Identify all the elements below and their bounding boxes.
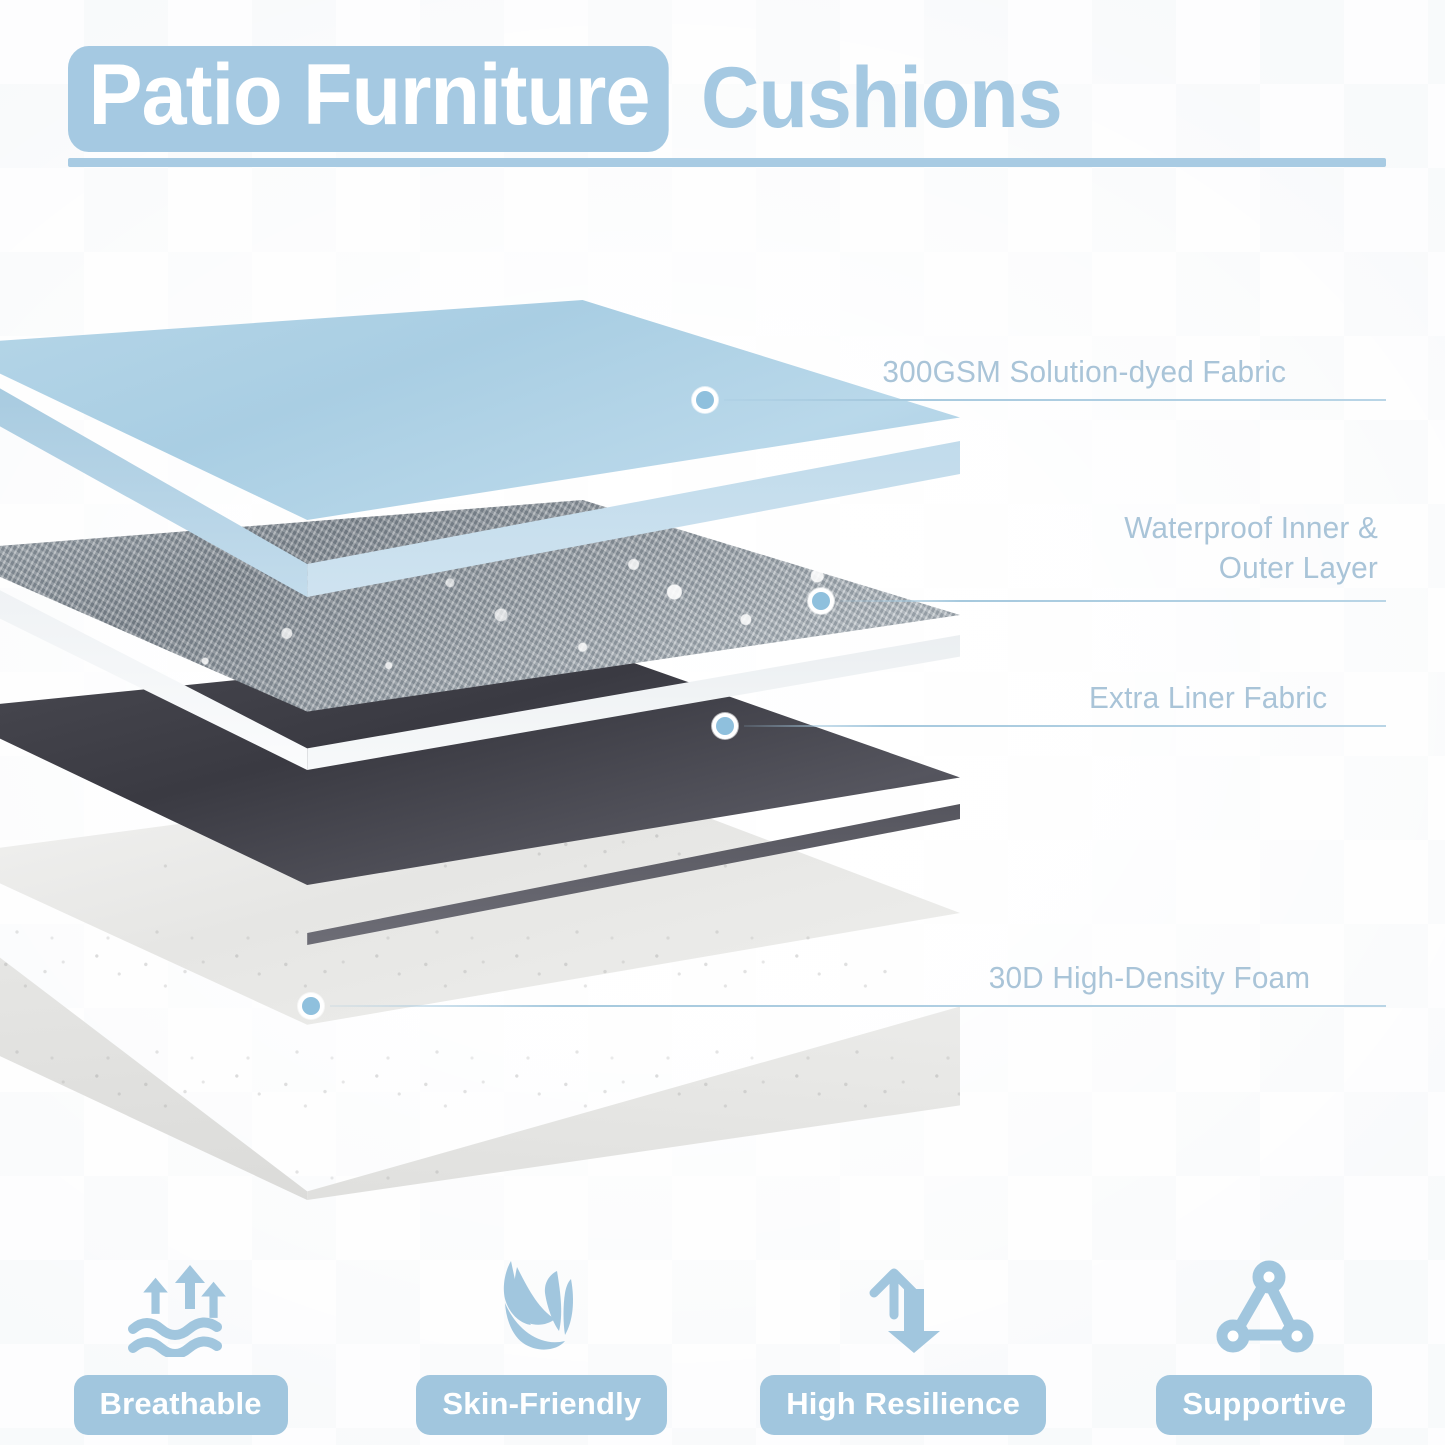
feature-label[interactable]: Supportive (1156, 1375, 1372, 1435)
feature-label[interactable]: High Resilience (760, 1375, 1046, 1435)
title-plain-text: Cushions (701, 55, 1062, 143)
title-highlight-badge: Patio Furniture (68, 46, 668, 152)
feature-badge-row: Breathable Skin-Friendly (0, 1185, 1445, 1435)
feature-label[interactable]: Breathable (74, 1375, 288, 1435)
product-layer-stack (0, 300, 990, 1100)
feature-breathable[interactable]: Breathable (0, 1185, 361, 1435)
page-title: Patio Furniture Cushions (68, 46, 1084, 152)
fabric-top-face (0, 300, 960, 550)
feature-label[interactable]: Skin-Friendly (416, 1375, 667, 1435)
feather-icon (482, 1253, 602, 1357)
breathable-arrows-waves-icon (121, 1253, 241, 1357)
feature-skin-friendly[interactable]: Skin-Friendly (361, 1185, 722, 1435)
up-down-arrows-icon (843, 1253, 963, 1357)
feature-high-resilience[interactable]: High Resilience (723, 1185, 1084, 1435)
title-underline-bar (68, 158, 1386, 167)
product-layer-fabric (0, 300, 960, 600)
feature-supportive[interactable]: Supportive (1084, 1185, 1445, 1435)
triangle-nodes-icon (1204, 1253, 1324, 1357)
page-header: Patio Furniture Cushions (0, 0, 1445, 185)
